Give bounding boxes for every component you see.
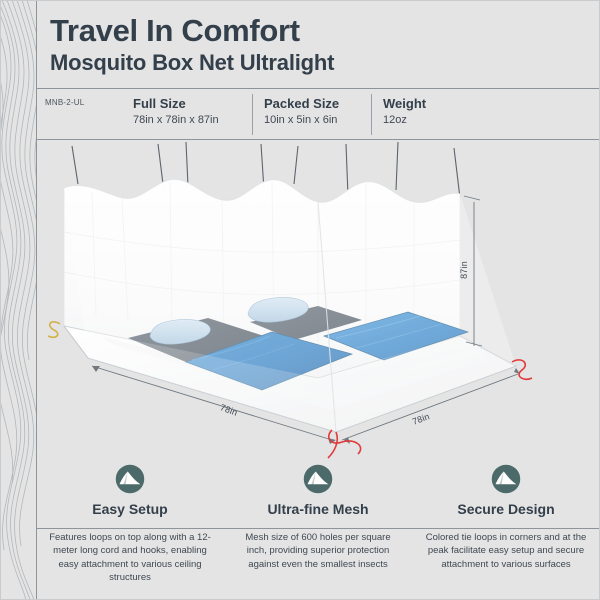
spec-divider-2: [371, 94, 372, 135]
feature-easy-setup: Easy Setup Features loops on top along w…: [36, 462, 224, 585]
feature-ultra-fine-mesh: Ultra-fine Mesh Mesh size of 600 holes p…: [224, 462, 412, 571]
mountain-icon: [491, 464, 521, 494]
spec-item-full-size: Full Size 78in x 78in x 87in: [133, 96, 219, 128]
spec-label: Packed Size: [264, 96, 339, 112]
feature-description: Features loops on top along with a 12-me…: [36, 531, 224, 585]
product-sku: MNB-2-UL: [45, 98, 84, 107]
spec-item-weight: Weight 12oz: [383, 96, 426, 128]
features-section: Easy Setup Features loops on top along w…: [36, 462, 600, 600]
dimension-label-height: 87in: [459, 261, 469, 279]
spec-bar: MNB-2-UL Full Size 78in x 78in x 87in Pa…: [36, 89, 600, 139]
mountain-icon: [303, 464, 333, 494]
tie-loop-red-front: [328, 430, 361, 458]
tie-loop-red-right: [512, 360, 532, 379]
feature-description: Mesh size of 600 holes per square inch, …: [224, 531, 412, 571]
page-subtitle: Mosquito Box Net Ultralight: [50, 50, 590, 75]
tie-loop-yellow: [48, 322, 60, 337]
spec-label: Full Size: [133, 96, 219, 112]
product-illustration: [36, 140, 600, 460]
feature-title: Secure Design: [412, 501, 600, 518]
spec-divider-1: [252, 94, 253, 135]
spec-value: 10in x 5in x 6in: [264, 113, 339, 128]
spec-item-packed-size: Packed Size 10in x 5in x 6in: [264, 96, 339, 128]
header: Travel In Comfort Mosquito Box Net Ultra…: [50, 14, 590, 76]
feature-secure-design: Secure Design Colored tie loops in corne…: [412, 462, 600, 571]
feature-description: Colored tie loops in corners and at the …: [412, 531, 600, 571]
feature-title: Ultra-fine Mesh: [224, 501, 412, 518]
infographic-page: Travel In Comfort Mosquito Box Net Ultra…: [0, 0, 600, 600]
spec-label: Weight: [383, 96, 426, 112]
mountain-icon: [115, 464, 145, 494]
topographic-pattern-strip: [0, 0, 36, 600]
spec-value: 12oz: [383, 113, 426, 128]
feature-title: Easy Setup: [36, 501, 224, 518]
net-transparent-overlay: [64, 179, 516, 432]
spec-value: 78in x 78in x 87in: [133, 113, 219, 128]
page-title: Travel In Comfort: [50, 14, 590, 47]
